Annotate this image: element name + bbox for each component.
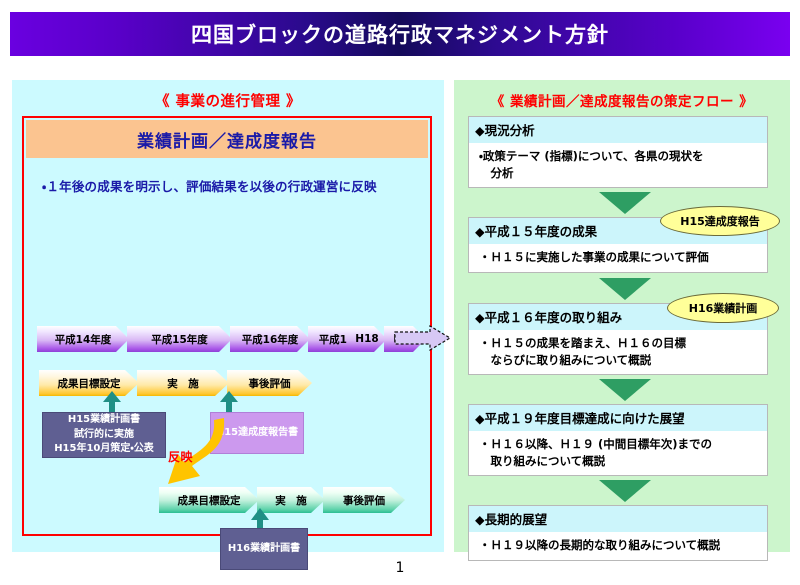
timeline-year-label: H18 (355, 333, 378, 345)
phase-chevron-upper: 成果目標設定 (39, 370, 139, 396)
right-panel-heading: 《 業績計画／達成度報告の策定フロー 》 (454, 90, 790, 110)
flow-step-box: ◆現況分析 ・政策テーマ (指標)について、各県の現状を 分析 (468, 116, 768, 188)
page-number: 1 (0, 560, 800, 576)
h15-plan-document-box: H15業績計画書 試行的に実施 H15年10月策定・公表 (42, 412, 166, 458)
timeline-continuation-arrow (394, 324, 452, 352)
lead-statement: ・１年後の成果を明示し、評価結果を以後の行政運営に反映 (42, 176, 422, 195)
flow-body-line: 分析 (479, 165, 759, 182)
phase-label: 事後評価 (249, 376, 291, 391)
phase-label: 実 施 (167, 376, 199, 391)
phase-chevron-lower: 事後評価 (323, 487, 405, 513)
left-panel: 《 事業の進行管理 》 業績計画／達成度報告 ・１年後の成果を明示し、評価結果を… (12, 80, 444, 552)
timeline-year-label: 平成14年度 (55, 332, 112, 347)
flow-step-box: ◆長期的展望 ・Ｈ１９以降の長期的な取り組みについて概説 (468, 505, 768, 561)
phase-chevron-upper: 実 施 (137, 370, 229, 396)
slide-title-bar: 四国ブロックの道路行政マネジメント方針 (10, 12, 790, 56)
box-line: H15業績計画書 (54, 413, 154, 428)
flow-step-body: ・Ｈ１５の成果を踏まえ、Ｈ１６の目標 ならびに取り組みについて概説 (469, 330, 767, 374)
flow-step-title: ◆長期的展望 (469, 506, 767, 532)
box-line: H15年10月策定・公表 (54, 442, 154, 457)
flow-body-line: ならびに取り組みについて概説 (479, 352, 759, 369)
timeline-year-chevron: 平成15年度 (127, 326, 232, 352)
timeline-year-label: 平成15年度 (151, 332, 208, 347)
framed-header-label: 業績計画／達成度報告 (137, 127, 317, 152)
phase-label: 成果目標設定 (178, 493, 241, 508)
flow-step-title: ◆現況分析 (469, 117, 767, 143)
flow-step-body: ・Ｈ１５に実施した事業の成果について評価 (469, 244, 767, 272)
flow-down-triangle-icon (599, 278, 651, 300)
phase-chevron-upper: 事後評価 (227, 370, 312, 396)
flow-step-title: ◆平成１９年度目標達成に向けた展望 (469, 405, 767, 431)
feedback-label: 反映 (168, 448, 193, 465)
flow-body-line: ・政策テーマ (指標)について、各県の現状を (479, 148, 759, 165)
flow-step-body: ・政策テーマ (指標)について、各県の現状を 分析 (469, 143, 767, 187)
flow-step-box: ◆平成１９年度目標達成に向けた展望 ・Ｈ１６以降、Ｈ１９ (中間目標年次)までの… (468, 404, 768, 476)
phase-label: 実 施 (275, 493, 307, 508)
callout-h16-plan: H16業績計画 (667, 293, 779, 323)
flow-step-body: ・Ｈ１６以降、Ｈ１９ (中間目標年次)までの 取り組みについて概説 (469, 431, 767, 475)
flow-body-line: ・Ｈ１６以降、Ｈ１９ (中間目標年次)までの (479, 436, 759, 453)
page-title: 四国ブロックの道路行政マネジメント方針 (10, 12, 790, 56)
flow-body-line: 取り組みについて概説 (479, 453, 759, 470)
flow-body-line: ・Ｈ１５の成果を踏まえ、Ｈ１６の目標 (479, 335, 759, 352)
timeline-year-chevron: 平成16年度 (230, 326, 310, 352)
timeline-year-chevron: 平成14年度 (37, 326, 129, 352)
framed-header-band: 業績計画／達成度報告 (26, 120, 428, 158)
callout-h15-report: H15達成度報告 (660, 206, 780, 236)
flow-step-body: ・Ｈ１９以降の長期的な取り組みについて概説 (469, 532, 767, 560)
flow-down-triangle-icon (599, 192, 651, 214)
flow-body-line: ・Ｈ１５に実施した事業の成果について評価 (479, 249, 759, 266)
left-panel-heading: 《 事業の進行管理 》 (12, 90, 444, 111)
phase-label: 事後評価 (343, 493, 385, 508)
flow-down-triangle-icon (599, 480, 651, 502)
flow-body-line: ・Ｈ１９以降の長期的な取り組みについて概説 (479, 537, 759, 554)
flow-down-triangle-icon (599, 379, 651, 401)
timeline-year-label: 平成16年度 (242, 332, 299, 347)
right-panel: 《 業績計画／達成度報告の策定フロー 》 ◆現況分析 ・政策テーマ (指標)につ… (454, 80, 790, 552)
phase-label: 成果目標設定 (58, 376, 121, 391)
box-line: 試行的に実施 (54, 428, 154, 443)
phase-chevron-lower: 成果目標設定 (159, 487, 259, 513)
